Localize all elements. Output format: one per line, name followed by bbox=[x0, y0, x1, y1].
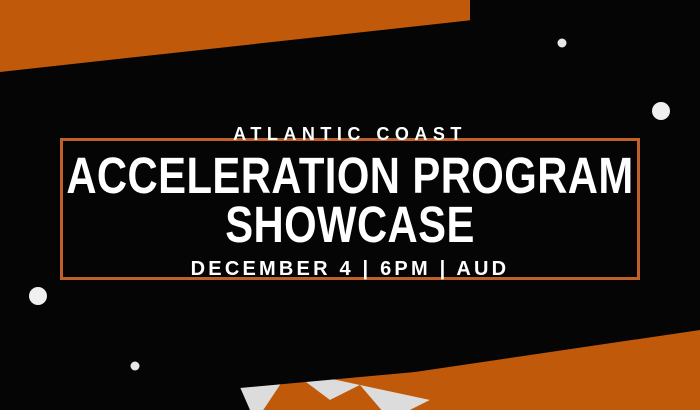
dot-large-left-icon bbox=[29, 287, 47, 305]
dot-small-top-right-icon bbox=[558, 39, 567, 48]
dot-large-right-icon bbox=[652, 102, 670, 120]
event-poster: Atlantic Coast Acceleration Program Show… bbox=[0, 0, 700, 410]
dot-small-bottom-left-icon bbox=[131, 362, 140, 371]
orange-rectangle-frame bbox=[60, 138, 640, 280]
